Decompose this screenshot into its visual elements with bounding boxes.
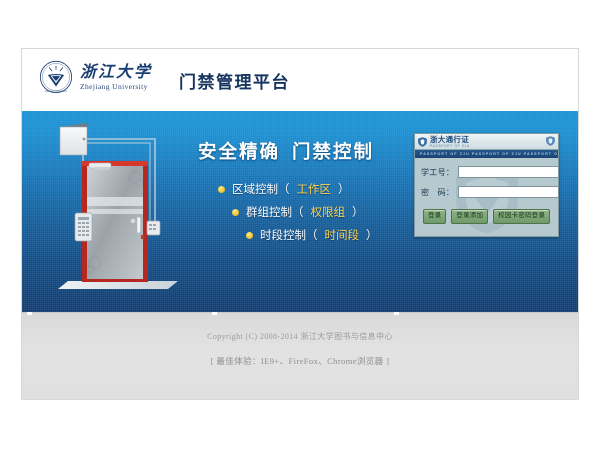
banner-slogan: 安全精确门禁控制: [198, 138, 374, 164]
feature-text-highlight: 时间段: [325, 227, 360, 243]
page-title: 门禁管理平台: [179, 68, 290, 93]
feature-text-main: 区域控制（: [232, 181, 290, 197]
feature-text-tail: ）: [338, 181, 350, 197]
password-label: 密 码：: [421, 187, 454, 198]
access-control-door-illustration: [40, 117, 190, 307]
field-row-userid: 学工号：: [415, 166, 558, 178]
feature-text-main: 群组控制（: [246, 204, 304, 220]
login-form: 学工号： 密 码： 登录 登录添加 校园卡密码登录: [415, 158, 558, 237]
field-row-password: 密 码：: [415, 186, 558, 198]
feature-text-main: 时段控制（: [260, 227, 318, 243]
university-name-en: Zhejiang University: [80, 82, 152, 91]
login-panel: 浙大通行证 PASSPORT OF ZJU PASSPORT OF ZJU PA…: [414, 133, 559, 237]
university-name-cn: 浙江大学: [80, 64, 152, 81]
copyright-text: Copyright (C) 2008-2014 浙江大学图书与信息中心: [22, 331, 578, 342]
login-button[interactable]: 登录: [423, 209, 446, 224]
login-panel-title-en: PASSPORT OF ZJU: [430, 144, 470, 148]
login-button-row: 登录 登录添加 校园卡密码登录: [415, 209, 558, 224]
zju-seal-icon: ZHEJIANG UNIVERSITY: [39, 60, 73, 94]
bullet-dot-icon: [232, 209, 239, 216]
site-footer: Copyright (C) 2008-2014 浙江大学图书与信息中心 [ 最佳…: [22, 312, 578, 400]
login-panel-titlebar: 浙大通行证 PASSPORT OF ZJU: [415, 134, 558, 150]
userid-label: 学工号：: [421, 167, 454, 178]
slogan-part-2: 门禁控制: [292, 141, 374, 162]
footer-tick-marks: [22, 312, 578, 315]
bullet-dot-icon: [218, 186, 225, 193]
hero-banner: 安全精确门禁控制 区域控制（工作区） 群组控制（权限组） 时段控制（时间段）: [22, 111, 578, 312]
shield-icon-right: [546, 136, 555, 146]
login-panel-title-cn: 浙大通行证: [430, 136, 470, 144]
university-logo[interactable]: ZHEJIANG UNIVERSITY 浙江大学 Zhejiang Univer…: [39, 60, 152, 94]
content-card: ZHEJIANG UNIVERSITY 浙江大学 Zhejiang Univer…: [21, 48, 579, 400]
feature-text-tail: ）: [352, 204, 364, 220]
login-panel-strip: PASSPORT OF ZJU PASSPORT OF ZJU PASSPORT…: [415, 150, 558, 158]
login-add-button[interactable]: 登录添加: [451, 209, 488, 224]
site-header: ZHEJIANG UNIVERSITY 浙江大学 Zhejiang Univer…: [22, 49, 578, 111]
wordmark: 浙江大学 Zhejiang University: [80, 64, 152, 91]
student-staff-id-input[interactable]: [458, 166, 558, 178]
login-panel-strip-text: PASSPORT OF ZJU PASSPORT OF ZJU PASSPORT…: [415, 152, 558, 156]
browser-support-note: [ 最佳体验：IE9+、FireFox、Chrome浏览器 ]: [22, 355, 578, 367]
shield-icon: [418, 137, 427, 147]
bullet-dot-icon: [246, 232, 253, 239]
slogan-part-1: 安全精确: [198, 141, 280, 162]
password-input[interactable]: [458, 186, 558, 198]
feature-text-highlight: 权限组: [311, 204, 346, 220]
feature-text-highlight: 工作区: [297, 181, 332, 197]
login-panel-title-text: 浙大通行证 PASSPORT OF ZJU: [430, 136, 470, 148]
feature-text-tail: ）: [366, 227, 378, 243]
campus-card-login-button[interactable]: 校园卡密码登录: [493, 209, 550, 224]
page-root: ZHEJIANG UNIVERSITY 浙江大学 Zhejiang Univer…: [0, 0, 600, 450]
